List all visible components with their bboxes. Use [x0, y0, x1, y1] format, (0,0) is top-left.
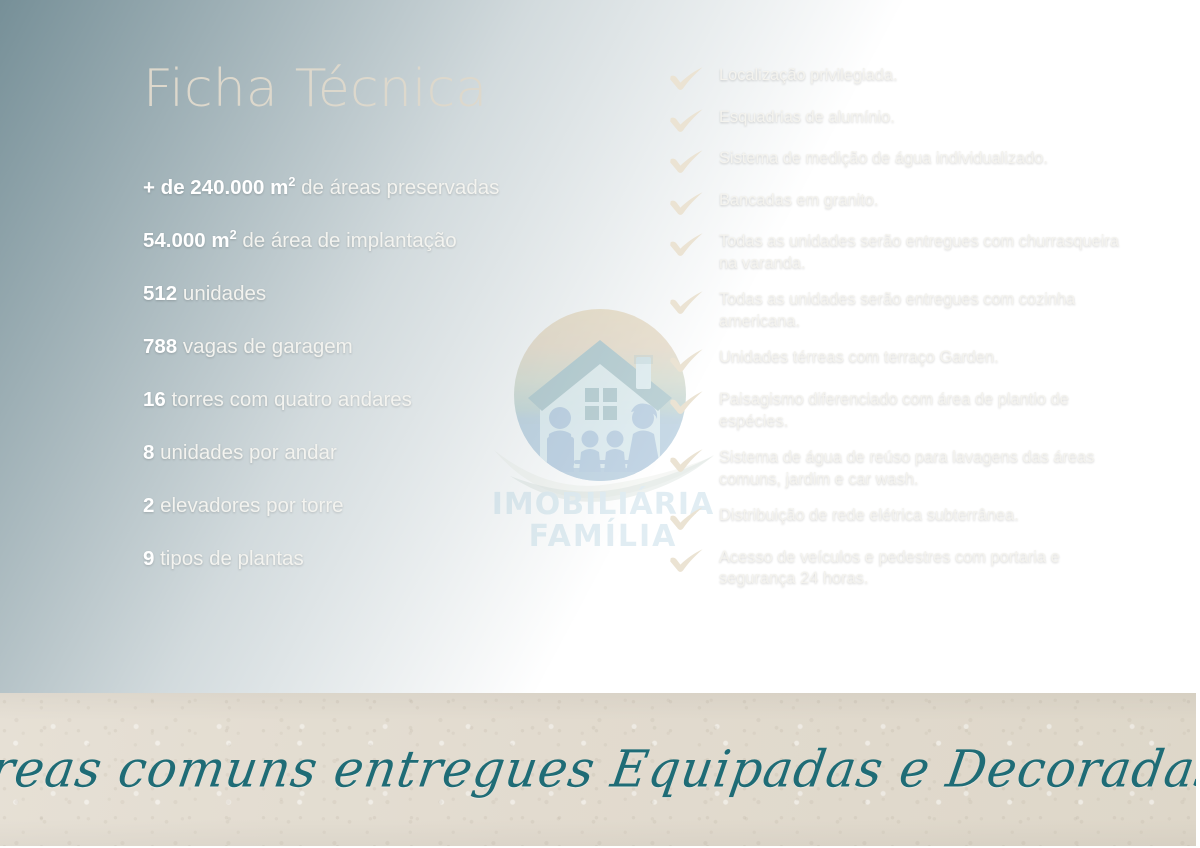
checklist-item: Todas as unidades serão entregues com co…	[669, 288, 1139, 333]
checklist-item: Unidades térreas com terraço Garden.	[669, 346, 1139, 374]
checklist-item: Bancadas em granito.	[669, 189, 1139, 217]
stat-label: de área de implantação	[237, 229, 457, 252]
stat-label: elevadores por torre	[154, 494, 343, 517]
check-icon	[669, 231, 705, 257]
check-icon	[669, 107, 705, 133]
check-icon	[669, 347, 705, 373]
page-title: Ficha Técnica	[143, 62, 488, 117]
stat-item: 512 unidades	[143, 282, 613, 306]
checklist-item: Sistema de água de reúso para lavagens d…	[669, 446, 1139, 491]
stat-label: tipos de plantas	[154, 547, 303, 570]
checklist-item: Esquadrias de alumínio.	[669, 106, 1139, 134]
checklist-item-label: Paisagismo diferenciado com área de plan…	[719, 388, 1139, 433]
stat-label: unidades	[177, 282, 266, 305]
stat-item: 9 tipos de plantas	[143, 547, 613, 571]
stat-label: vagas de garagem	[177, 335, 353, 358]
checklist-item-label: Localização privilegiada.	[719, 64, 898, 87]
checklist-item-label: Acesso de veículos e pedestres com porta…	[719, 546, 1139, 591]
checklist-item: Paisagismo diferenciado com área de plan…	[669, 388, 1139, 433]
stat-number: 8	[143, 441, 154, 464]
stat-number: 16	[143, 388, 166, 411]
ficha-tecnica-card: IMOBILIÁRIA FAMÍLIA Ficha Técnica + de 2…	[0, 0, 1200, 848]
check-icon	[669, 547, 705, 573]
stat-number: 54.000 m2	[143, 229, 237, 252]
checklist-item-label: Todas as unidades serão entregues com co…	[719, 288, 1139, 333]
stat-item: 54.000 m2 de área de implantação	[143, 229, 613, 253]
checklist-item: Distribuição de rede elétrica subterrâne…	[669, 504, 1139, 532]
checklist-item-label: Distribuição de rede elétrica subterrâne…	[719, 504, 1019, 527]
check-icon	[669, 505, 705, 531]
checklist-item-label: Bancadas em granito.	[719, 189, 878, 212]
check-icon	[669, 65, 705, 91]
checklist-item-label: Esquadrias de alumínio.	[719, 106, 895, 129]
stat-item: 2 elevadores por torre	[143, 494, 613, 518]
stats-list: + de 240.000 m2 de áreas preservadas54.0…	[143, 176, 613, 601]
check-icon	[669, 389, 705, 415]
checklist-item: Todas as unidades serão entregues com ch…	[669, 230, 1139, 275]
stat-number: 788	[143, 335, 177, 358]
stat-item: 8 unidades por andar	[143, 441, 613, 465]
footer-tagline-wrap: Áreas comuns entregues Equipadas e Decor…	[0, 693, 1196, 846]
checklist-item-label: Todas as unidades serão entregues com ch…	[719, 230, 1139, 275]
check-icon	[669, 289, 705, 315]
checklist-item-label: Unidades térreas com terraço Garden.	[719, 346, 999, 369]
footer-tagline: Áreas comuns entregues Equipadas e Decor…	[0, 740, 1200, 799]
stat-number: + de 240.000 m2	[143, 176, 295, 199]
check-icon	[669, 447, 705, 473]
checklist-item: Localização privilegiada.	[669, 64, 1139, 92]
features-checklist: Localização privilegiada.Esquadrias de a…	[669, 64, 1139, 604]
stat-number: 2	[143, 494, 154, 517]
stat-number: 512	[143, 282, 177, 305]
stat-number: 9	[143, 547, 154, 570]
stat-item: + de 240.000 m2 de áreas preservadas	[143, 176, 613, 200]
checklist-item-label: Sistema de água de reúso para lavagens d…	[719, 446, 1139, 491]
stat-item: 788 vagas de garagem	[143, 335, 613, 359]
checklist-item-label: Sistema de medição de água individualiza…	[719, 147, 1048, 170]
checklist-item: Acesso de veículos e pedestres com porta…	[669, 546, 1139, 591]
stat-label: unidades por andar	[154, 441, 336, 464]
stat-label: torres com quatro andares	[166, 388, 412, 411]
stat-superscript: 2	[230, 227, 237, 242]
checklist-item: Sistema de medição de água individualiza…	[669, 147, 1139, 175]
stat-item: 16 torres com quatro andares	[143, 388, 613, 412]
stat-label: de áreas preservadas	[295, 176, 499, 199]
check-icon	[669, 148, 705, 174]
check-icon	[669, 190, 705, 216]
